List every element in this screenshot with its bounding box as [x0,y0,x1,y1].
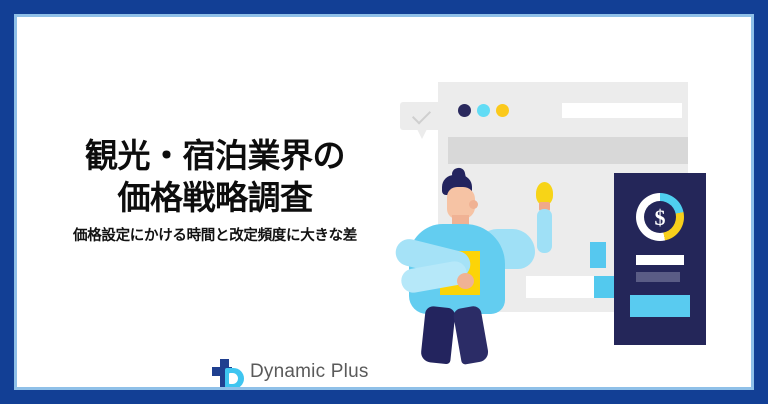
page-subtitle: 価格設定にかける時間と改定頻度に大きな差 [45,224,385,245]
card-action-button [630,295,690,317]
toolbar-strip [448,137,688,164]
poster-border: 観光・宿泊業界の 価格戦略調査 価格設定にかける時間と改定頻度に大きな差 [0,0,768,404]
dynamic-plus-logo-mark-icon [212,359,244,387]
dollar-icon: $ [644,202,676,234]
check-icon [412,105,431,124]
navy-dot-icon [458,104,471,117]
dashboard-card-graphic: $ [614,173,706,345]
hero-illustration: $ [400,17,751,387]
ear [469,200,478,209]
page-title-line-1: 観光・宿泊業界の [45,135,385,177]
hand [457,273,474,289]
leg-back [420,306,456,365]
card-row-white [636,255,684,265]
brand-logo: Dynamic Plus [212,357,372,387]
bar-small [590,242,606,268]
character-illustration [395,167,555,362]
checkmark-bubble [400,102,442,130]
yellow-dot-icon [496,104,509,117]
poster-canvas: 観光・宿泊業界の 価格戦略調査 価格設定にかける時間と改定頻度に大きな差 [17,17,751,387]
headline-block: 観光・宿泊業界の 価格戦略調査 価格設定にかける時間と改定頻度に大きな差 [45,135,385,245]
address-bar [562,103,682,118]
brand-name: Dynamic Plus [250,361,369,383]
cyan-dot-icon [477,104,490,117]
card-row-grey [636,272,680,282]
page-title-line-2: 価格戦略調査 [45,177,385,219]
